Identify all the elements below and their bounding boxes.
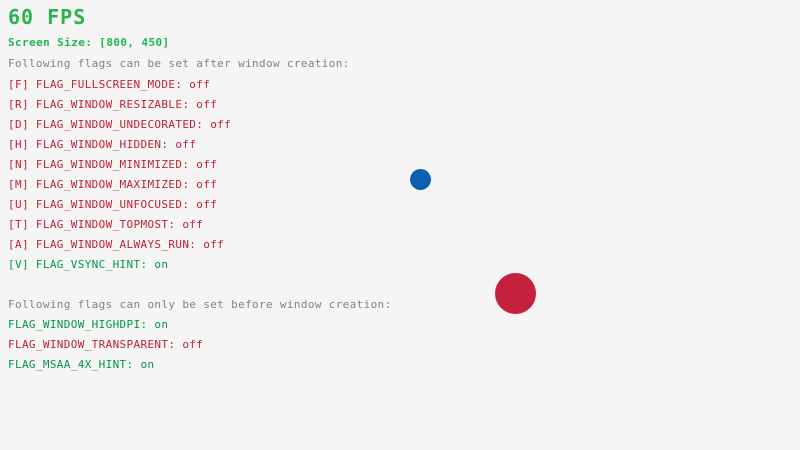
flag-row-window-undecorated[interactable]: [D] FLAG_WINDOW_UNDECORATED: off [8, 119, 231, 130]
section-header-after-creation: Following flags can be set after window … [8, 58, 350, 69]
flag-row-window-maximized[interactable]: [M] FLAG_WINDOW_MAXIMIZED: off [8, 179, 217, 190]
flag-row-window-resizable[interactable]: [R] FLAG_WINDOW_RESIZABLE: off [8, 99, 217, 110]
flag-row-window-hidden[interactable]: [H] FLAG_WINDOW_HIDDEN: off [8, 139, 196, 150]
flag-row-msaa-4x-hint: FLAG_MSAA_4X_HINT: on [8, 359, 154, 370]
flag-row-window-highdpi: FLAG_WINDOW_HIGHDPI: on [8, 319, 168, 330]
flag-row-vsync-hint[interactable]: [V] FLAG_VSYNC_HINT: on [8, 259, 168, 270]
flag-row-window-unfocused[interactable]: [U] FLAG_WINDOW_UNFOCUSED: off [8, 199, 217, 210]
flag-row-window-topmost[interactable]: [T] FLAG_WINDOW_TOPMOST: off [8, 219, 203, 230]
flag-row-fullscreen-mode[interactable]: [F] FLAG_FULLSCREEN_MODE: off [8, 79, 210, 90]
screen-size-label: Screen Size: [800, 450] [8, 37, 170, 48]
section-header-before-creation: Following flags can only be set before w… [8, 299, 392, 310]
fps-counter: 60 FPS [8, 7, 86, 27]
blue-ball-shape [410, 169, 431, 190]
red-ball-shape [495, 273, 536, 314]
flag-row-window-minimized[interactable]: [N] FLAG_WINDOW_MINIMIZED: off [8, 159, 217, 170]
flag-row-window-always-run[interactable]: [A] FLAG_WINDOW_ALWAYS_RUN: off [8, 239, 224, 250]
raylib-window-canvas: 60 FPS Screen Size: [800, 450] Following… [0, 0, 800, 450]
flag-row-window-transparent: FLAG_WINDOW_TRANSPARENT: off [8, 339, 203, 350]
